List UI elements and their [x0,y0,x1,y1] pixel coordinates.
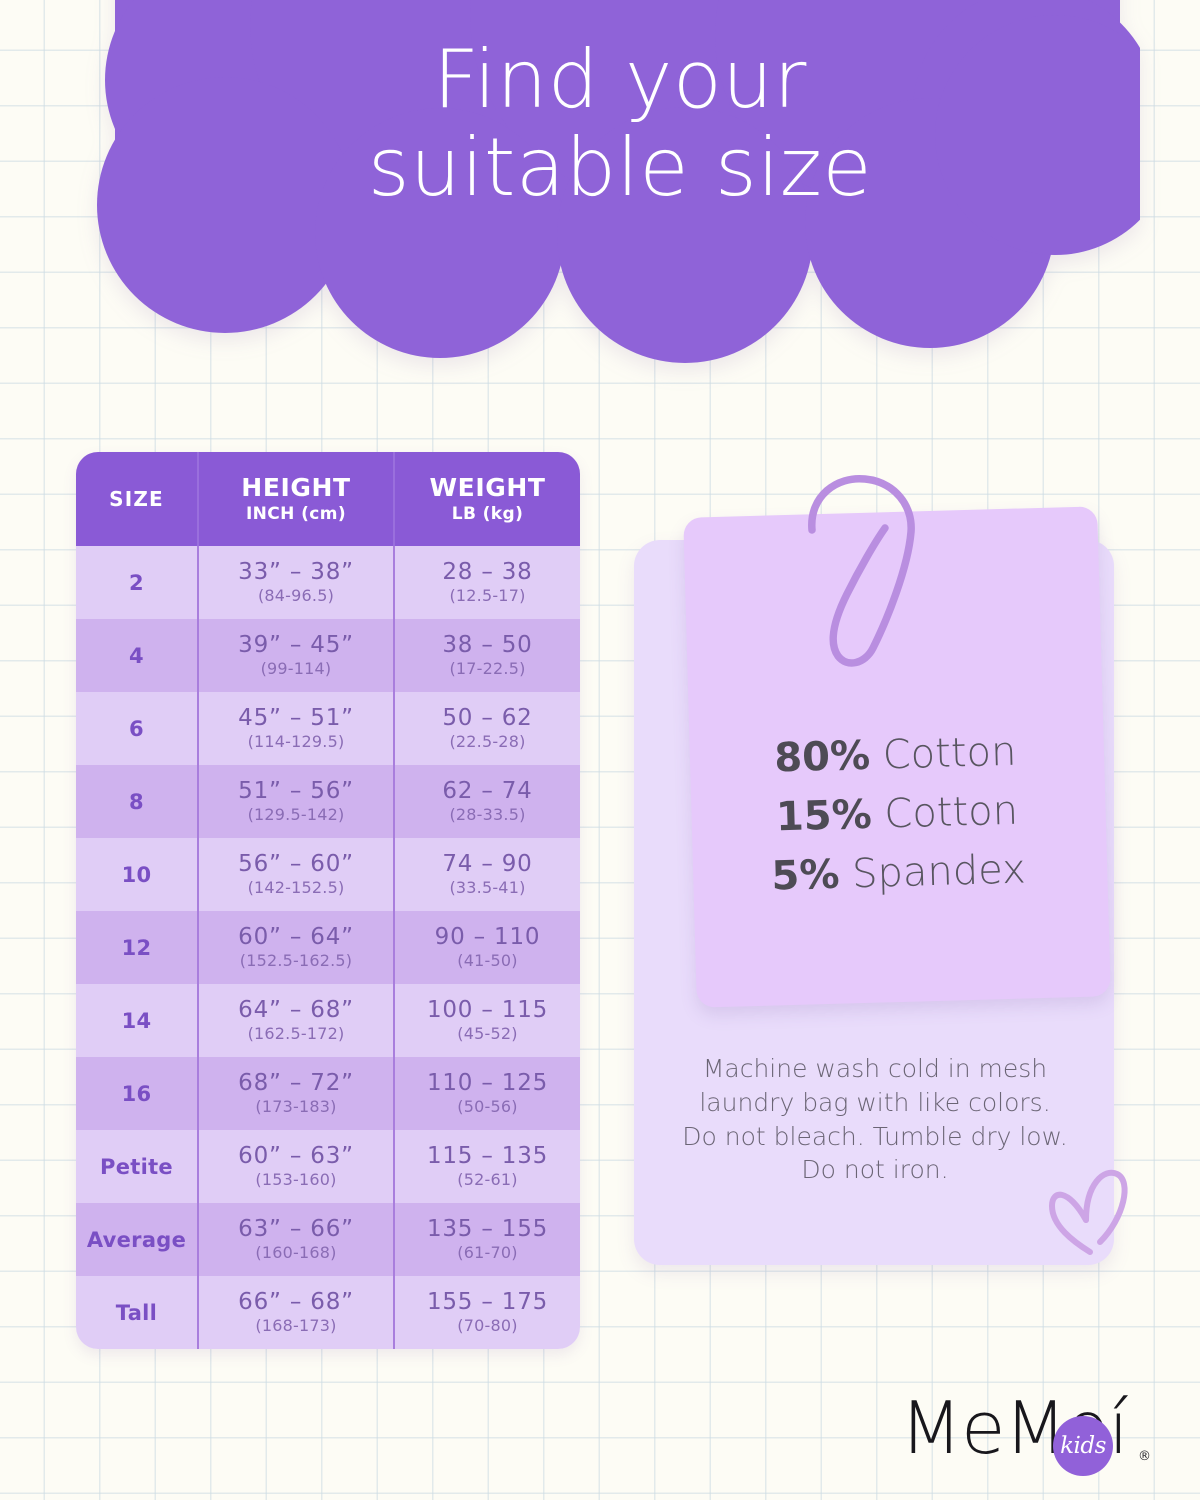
table-row: 4 39” – 45”(99-114) 38 – 50(17-22.5) [76,619,580,692]
table-row: 2 33” – 38”(84-96.5) 28 – 38(12.5-17) [76,546,580,619]
cell-height: 56” – 60”(142-152.5) [197,838,393,911]
table-row: 16 68” – 72”(173-183) 110 – 125(50-56) [76,1057,580,1130]
cell-height: 64” – 68”(162.5-172) [197,984,393,1057]
cell-size: 8 [76,765,197,838]
page-title: Find your suitable size [140,36,1100,212]
cell-size: 10 [76,838,197,911]
fabric-line: 5% Spandex [691,839,1106,910]
table-row: 14 64” – 68”(162.5-172) 100 – 115(45-52) [76,984,580,1057]
fabric-material: Cotton [884,788,1019,838]
table-row: Average 63” – 66”(160-168) 135 – 155(61-… [76,1203,580,1276]
cell-height: 60” – 63”(153-160) [197,1130,393,1203]
cell-size: 12 [76,911,197,984]
fabric-material: Spandex [852,847,1027,898]
column-header-weight: WEIGHT LB (kg) [393,452,580,546]
logo-kids-badge: kids [1053,1416,1113,1476]
logo-badge-label: kids [1060,1433,1106,1459]
cell-height: 33” – 38”(84-96.5) [197,546,393,619]
brand-logo: MeMoí kids ® [900,1392,1150,1482]
cell-height: 63” – 66”(160-168) [197,1203,393,1276]
care-instructions: Machine wash cold in mesh laundry bag wi… [650,1052,1100,1187]
cell-size: 2 [76,546,197,619]
cell-size: 14 [76,984,197,1057]
table-row: 12 60” – 64”(152.5-162.5) 90 – 110(41-50… [76,911,580,984]
fabric-composition-list: 80% Cotton 15% Cotton 5% Spandex [688,720,1107,909]
cell-size: 6 [76,692,197,765]
cell-weight: 28 – 38(12.5-17) [393,546,580,619]
cell-height: 45” – 51”(114-129.5) [197,692,393,765]
table-header-row: SIZE HEIGHT INCH (cm) WEIGHT LB (kg) [76,452,580,546]
cell-weight: 110 – 125(50-56) [393,1057,580,1130]
fabric-percent: 15% [775,792,872,841]
registered-mark: ® [1138,1449,1151,1464]
cell-weight: 38 – 50(17-22.5) [393,619,580,692]
cell-weight: 90 – 110(41-50) [393,911,580,984]
table-row: Tall 66” – 68”(168-173) 155 – 175(70-80) [76,1276,580,1349]
fabric-material: Cotton [882,729,1017,779]
infographic-page: Find your suitable size SIZE HEIGHT INCH… [0,0,1200,1500]
column-header-height: HEIGHT INCH (cm) [197,452,393,546]
cell-height: 39” – 45”(99-114) [197,619,393,692]
fabric-percent: 5% [771,852,840,900]
cell-weight: 74 – 90(33.5-41) [393,838,580,911]
table-row: 10 56” – 60”(142-152.5) 74 – 90(33.5-41) [76,838,580,911]
cell-size: 16 [76,1057,197,1130]
table-row: 8 51” – 56”(129.5-142) 62 – 74(28-33.5) [76,765,580,838]
cell-height: 51” – 56”(129.5-142) [197,765,393,838]
cell-weight: 50 – 62(22.5-28) [393,692,580,765]
cell-height: 66” – 68”(168-173) [197,1276,393,1349]
size-chart-table: SIZE HEIGHT INCH (cm) WEIGHT LB (kg) 2 3… [76,452,580,1349]
heart-doodle-icon [1042,1160,1147,1260]
fabric-percent: 80% [774,733,871,782]
cell-size: Tall [76,1276,197,1349]
cell-weight: 62 – 74(28-33.5) [393,765,580,838]
paperclip-icon [795,470,945,680]
cell-size: 4 [76,619,197,692]
cell-height: 68” – 72”(173-183) [197,1057,393,1130]
cell-height: 60” – 64”(152.5-162.5) [197,911,393,984]
cell-weight: 155 – 175(70-80) [393,1276,580,1349]
table-row: Petite 60” – 63”(153-160) 115 – 135(52-6… [76,1130,580,1203]
table-row: 6 45” – 51”(114-129.5) 50 – 62(22.5-28) [76,692,580,765]
cell-size: Petite [76,1130,197,1203]
column-header-size: SIZE [76,452,197,546]
cell-size: Average [76,1203,197,1276]
cell-weight: 100 – 115(45-52) [393,984,580,1057]
cell-weight: 135 – 155(61-70) [393,1203,580,1276]
cell-weight: 115 – 135(52-61) [393,1130,580,1203]
